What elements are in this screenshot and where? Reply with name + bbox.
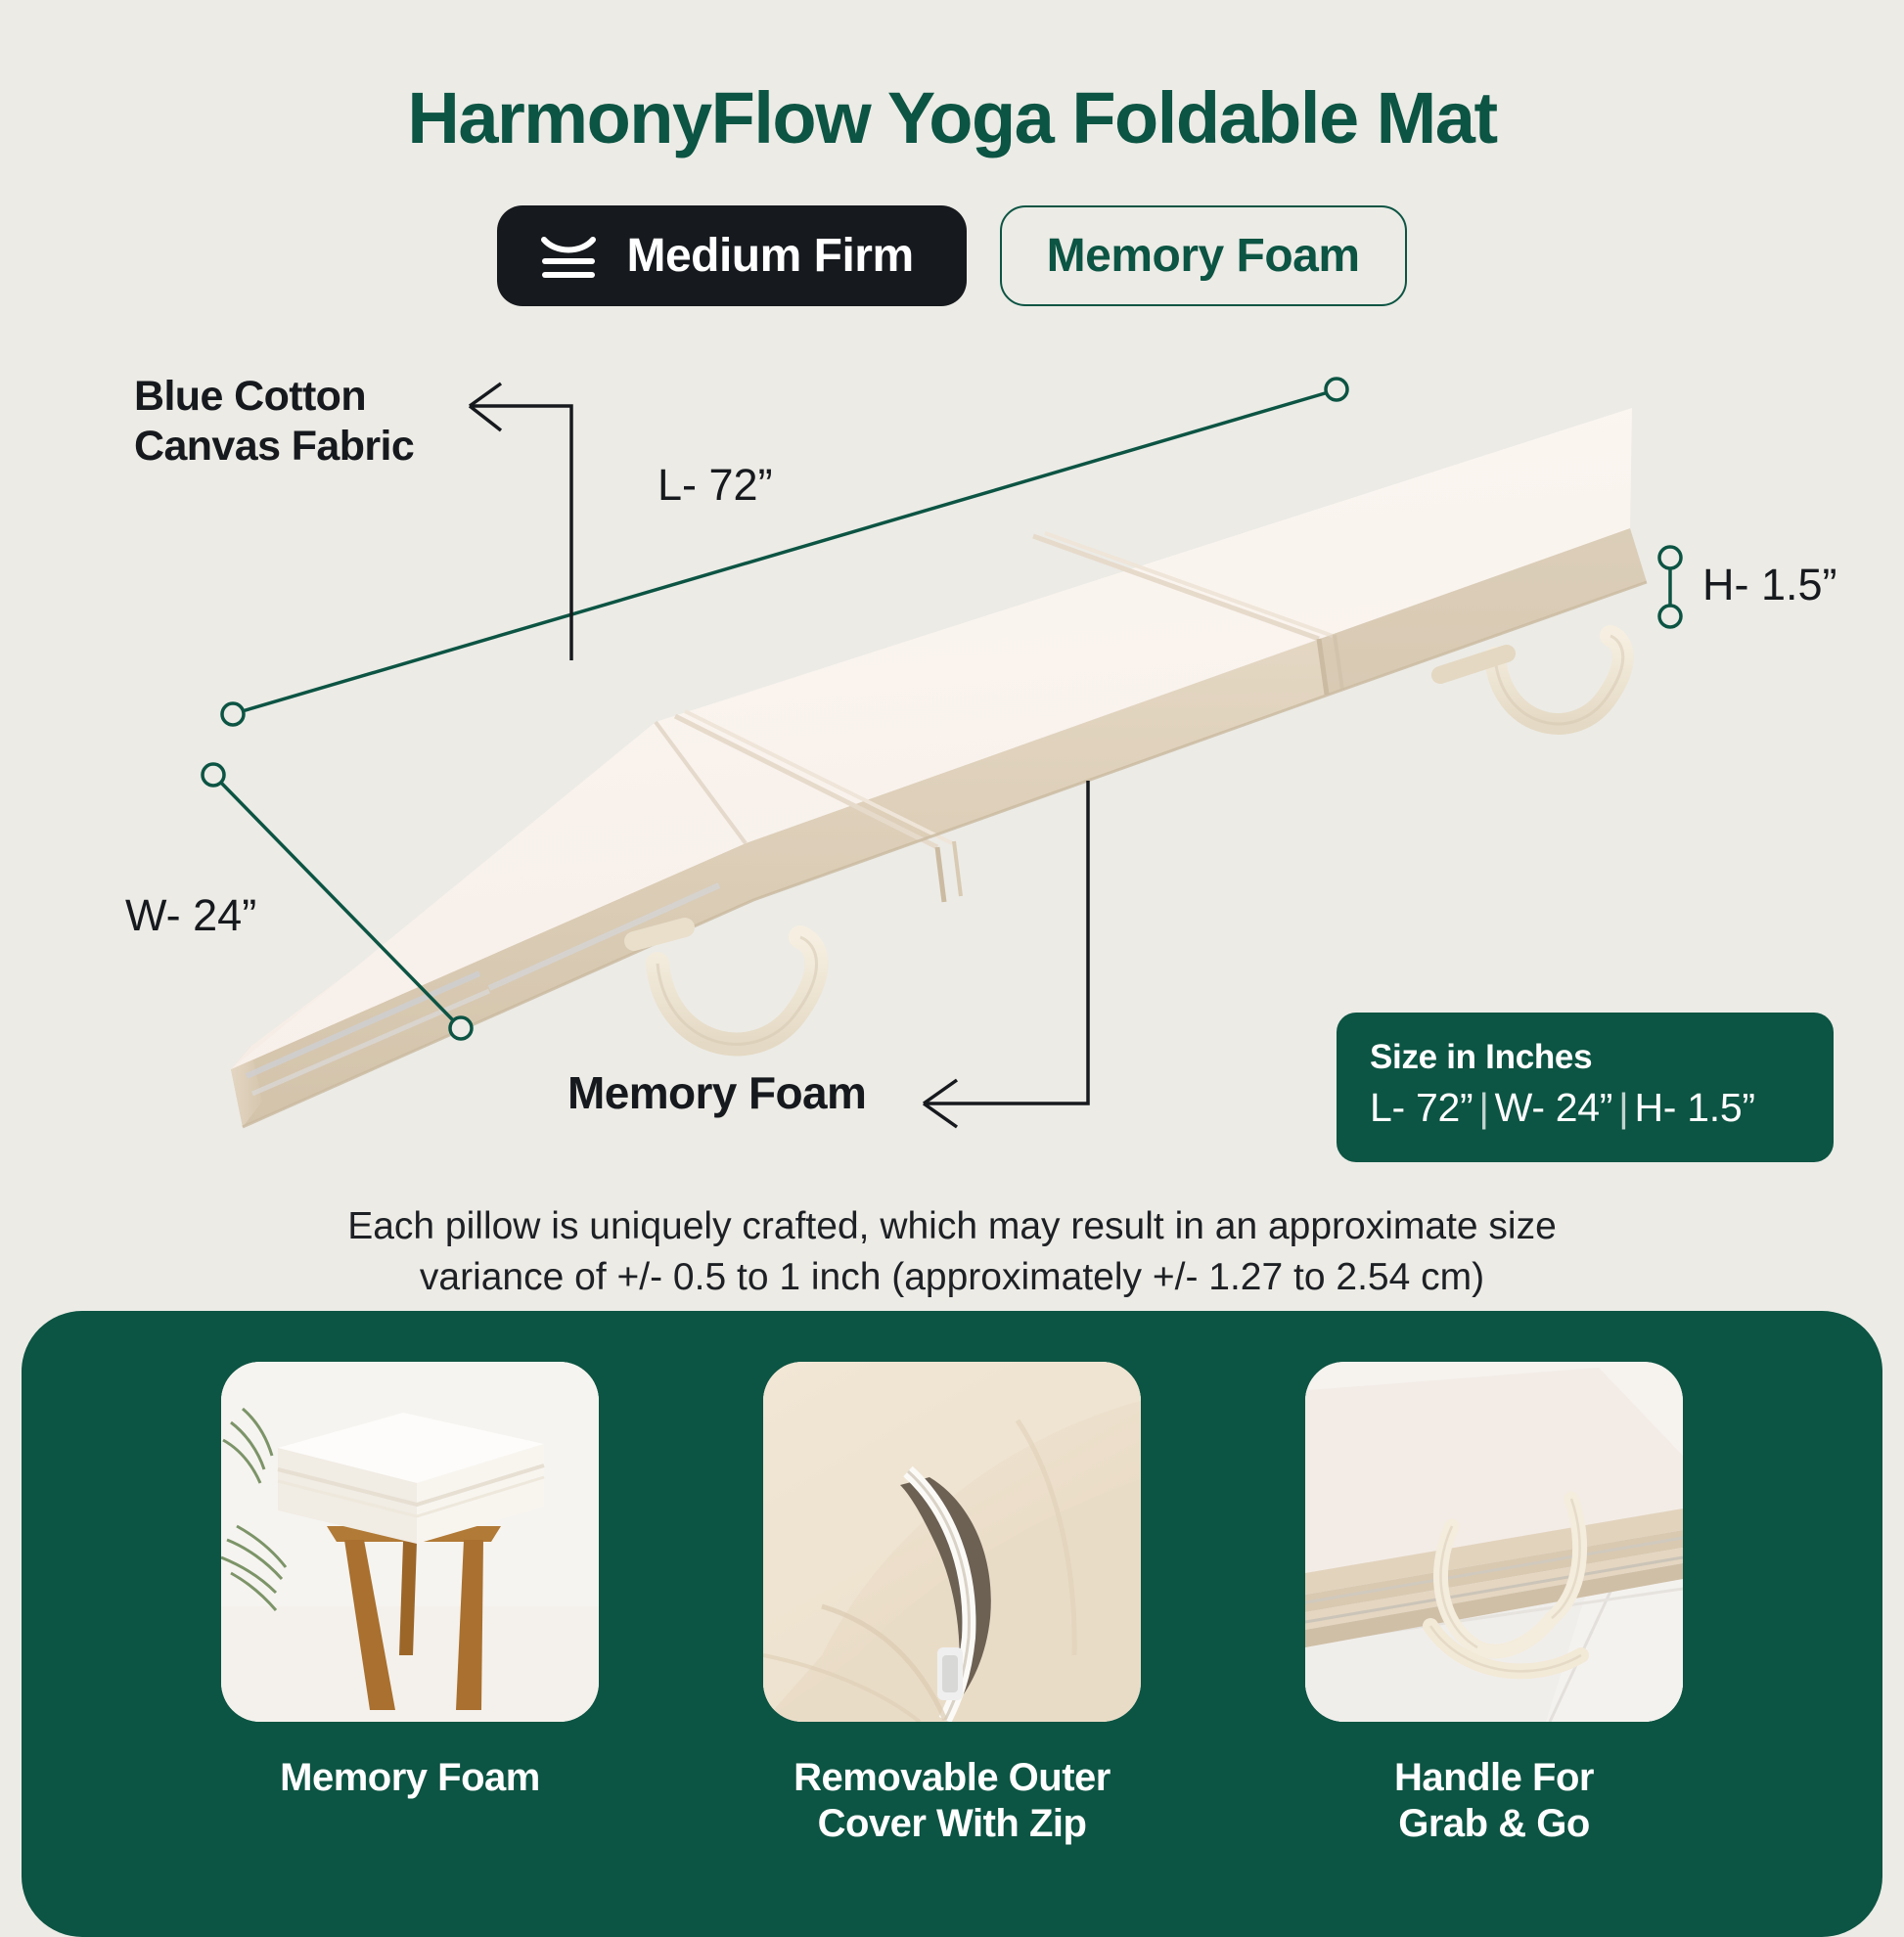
feature-card-label-1: Memory Foam [280,1755,540,1801]
annotation-fabric: Blue Cotton Canvas Fabric [134,372,414,471]
dimension-width-label: W- 24” [125,890,256,941]
feature-card-label-2: Removable Outer Cover With Zip [793,1755,1111,1847]
dimension-length-label: L- 72” [657,460,773,511]
dimension-height-label: H- 1.5” [1702,560,1837,610]
size-card-separator-1: | [1473,1085,1494,1130]
size-card-separator-2: | [1612,1085,1634,1130]
annotation-memory-foam: Memory Foam [567,1066,866,1119]
feature-card-list: Memory Foam [0,1362,1904,1847]
disclaimer-line-1: Each pillow is uniquely crafted, which m… [0,1201,1904,1252]
size-card-length: L- 72” [1370,1085,1473,1130]
feature-card-label-2-line1: Removable Outer [793,1756,1111,1799]
feature-card-handle[interactable]: Handle For Grab & Go [1305,1362,1683,1847]
size-summary-card: Size in Inches L- 72”|W- 24”|H- 1.5” [1337,1013,1834,1162]
size-variance-disclaimer: Each pillow is uniquely crafted, which m… [0,1201,1904,1304]
size-card-width: W- 24” [1495,1085,1612,1130]
folded-mat-with-handle-photo [1305,1362,1683,1722]
zipper-closeup-photo [763,1362,1141,1722]
size-card-height: H- 1.5” [1635,1085,1755,1130]
disclaimer-line-2: variance of +/- 0.5 to 1 inch (approxima… [0,1252,1904,1303]
feature-card-label-3-line2: Grab & Go [1398,1802,1590,1845]
feature-card-label-3: Handle For Grab & Go [1394,1755,1594,1847]
feature-card-removable-cover[interactable]: Removable Outer Cover With Zip [763,1362,1141,1847]
size-card-heading: Size in Inches [1370,1038,1800,1077]
annotation-fabric-line2: Canvas Fabric [134,423,414,470]
size-card-values: L- 72”|W- 24”|H- 1.5” [1370,1085,1800,1131]
foam-leader-line [924,781,1088,1127]
mat-handle-right [1440,636,1623,724]
memory-foam-block-on-stool-photo [221,1362,599,1722]
mat-handle-left [634,927,817,1044]
height-measure-line [1659,547,1681,627]
annotation-fabric-line1: Blue Cotton [134,373,366,420]
feature-card-memory-foam[interactable]: Memory Foam [221,1362,599,1847]
feature-card-label-3-line1: Handle For [1394,1756,1594,1799]
feature-card-label-2-line2: Cover With Zip [818,1802,1087,1845]
feature-card-label-1-line1: Memory Foam [280,1756,540,1799]
